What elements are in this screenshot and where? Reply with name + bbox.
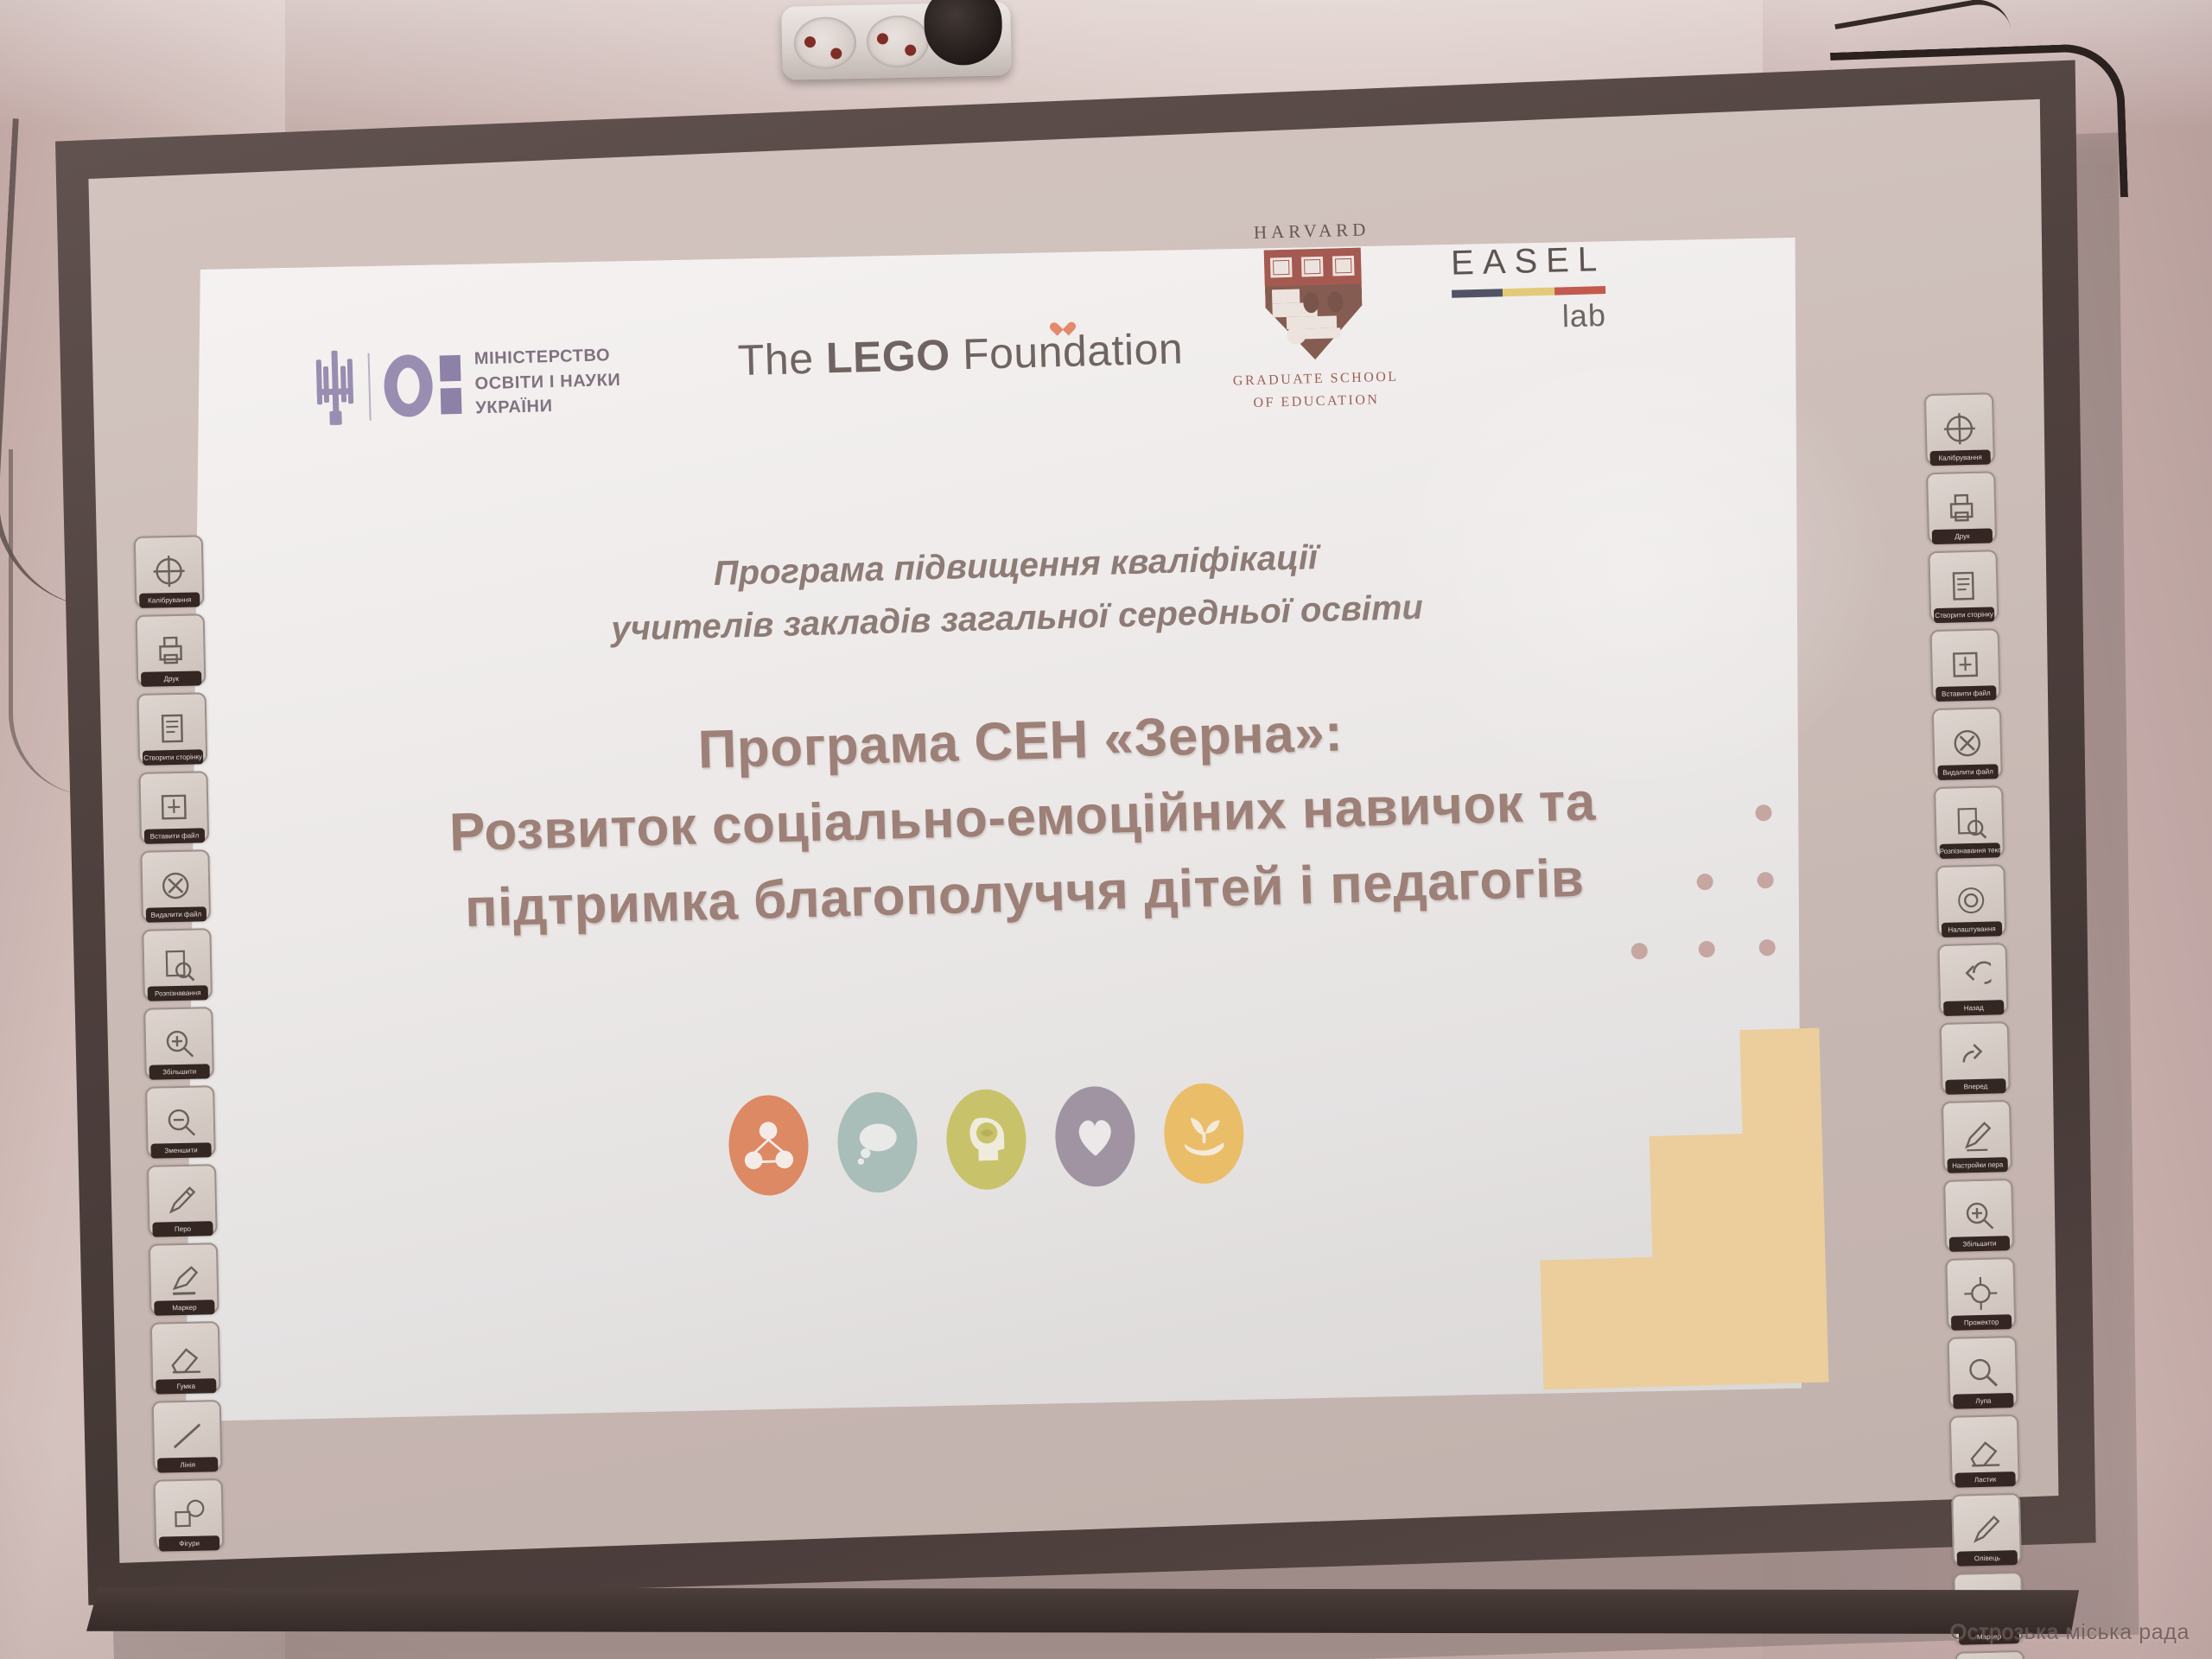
interactive-whiteboard: МІНІСТЕРСТВО ОСВІТИ І НАУКИ УКРАЇНИ The …	[35, 48, 2126, 1629]
toolbar-left-tool-6[interactable]: Збільшити	[143, 1007, 214, 1079]
target-icon	[1941, 410, 1978, 448]
undo-icon	[1955, 961, 1992, 998]
head-brain-icon	[945, 1089, 1027, 1191]
ukraine-trident-icon	[314, 350, 355, 425]
recognize-icon	[1950, 804, 1987, 841]
social-network-icon	[728, 1094, 810, 1196]
settings-icon	[1953, 882, 1990, 919]
decorative-steps	[1534, 1028, 1828, 1390]
toolbar-right-tool-label-1: Друк	[1932, 528, 1993, 544]
toolbar-left-tool-label-11: Лінія	[157, 1457, 218, 1472]
new-page-icon	[1945, 568, 1982, 605]
printer-icon	[1943, 489, 1980, 526]
easel-lab-text: lab	[1452, 297, 1606, 338]
toolbar-right-tool-12[interactable]: Лупа	[1948, 1336, 2018, 1408]
toolbar-right-tool-label-10: Збільшити	[1949, 1236, 2010, 1252]
toolbar-right-tool-5[interactable]: Розпізнавання тексту	[1934, 785, 2005, 858]
ministry-line-2: ОСВІТИ І НАУКИ	[474, 368, 621, 397]
line-icon	[168, 1417, 206, 1454]
pencil-icon	[1967, 1510, 2005, 1548]
toolbar-left-tool-label-1: Друк	[141, 671, 201, 686]
insert-file-icon	[156, 789, 193, 826]
toolbar-right-tool-label-3: Вставити файл	[1935, 685, 1996, 702]
delete-file-icon	[1948, 725, 1986, 762]
toolbar-left-tool-1[interactable]: Друк	[136, 613, 207, 686]
pen-settings-icon	[1958, 1118, 1995, 1155]
redo-icon	[1956, 1039, 1993, 1077]
harvard-subtitle: GRADUATE SCHOOL OF EDUCATION	[1211, 365, 1420, 416]
toolbar-left-tool-0[interactable]: Калібрування	[134, 535, 205, 607]
toolbar-left-tool-label-5: Розпізнавання	[148, 985, 208, 1001]
toolbar-left-tool-label-0: Калібрування	[139, 592, 200, 607]
toolbar-right-tool-label-9: Настройки пера	[1948, 1157, 2008, 1173]
heart-icon-domain	[1054, 1085, 1136, 1187]
toolbar-left-tool-label-2: Створити сторінку	[143, 749, 203, 765]
photo-scene: МІНІСТЕРСТВО ОСВІТИ І НАУКИ УКРАЇНИ The …	[0, 0, 2212, 1659]
toolbar-left-tool-12[interactable]: Фігури	[154, 1478, 225, 1551]
insert-file-icon	[1947, 646, 1984, 683]
toolbar-right-tool-16[interactable]: Фігури	[1955, 1650, 2025, 1659]
zoom-in-icon	[1961, 1196, 1998, 1233]
eraser-icon	[167, 1338, 204, 1376]
toolbar-right-tool-10[interactable]: Збільшити	[1943, 1179, 2014, 1251]
printer-icon	[152, 632, 189, 669]
harvard-shield-icon	[1264, 248, 1363, 361]
ministry-logo-text: МІНІСТЕРСТВО ОСВІТИ І НАУКИ УКРАЇНИ	[474, 343, 621, 421]
toolbar-left-tool-label-12: Фігури	[159, 1535, 219, 1551]
slide-content: МІНІСТЕРСТВО ОСВІТИ І НАУКИ УКРАЇНИ The …	[199, 199, 1828, 1417]
easel-wordmark: EASEL	[1451, 239, 1642, 283]
toolbar-right-tool-label-12: Лупа	[1953, 1393, 2013, 1409]
zoom-in-icon	[161, 1025, 198, 1062]
toolbar-right-tool-14[interactable]: Олівець	[1951, 1493, 2022, 1566]
new-page-icon	[154, 710, 191, 747]
toolbar-left-tool-label-7: Зменшити	[150, 1142, 211, 1158]
delete-file-icon	[157, 868, 194, 905]
toolbar-right-tool-label-7: Назад	[1943, 1000, 2004, 1016]
eraser-icon	[1966, 1432, 2003, 1469]
toolbar-left-tool-3[interactable]: Вставити файл	[138, 771, 209, 843]
toolbar-left-tool-9[interactable]: Маркер	[149, 1243, 219, 1315]
toolbar-right-tool-label-11: Прожектор	[1951, 1314, 2012, 1331]
toolbar-left-tool-7[interactable]: Зменшити	[145, 1085, 216, 1158]
mon-mark-icon	[384, 353, 462, 417]
lego-foundation-logo: The LEGO Foundation	[737, 323, 1184, 385]
toolbar-left-tool-8[interactable]: Перо	[147, 1164, 218, 1236]
easel-lab-logo: EASEL lab	[1451, 239, 1643, 338]
ministry-line-1: МІНІСТЕРСТВО	[474, 343, 620, 372]
toolbar-right-tool-label-13: Ластик	[1955, 1471, 2015, 1488]
toolbar-right-tool-label-2: Створити сторінку	[1934, 607, 1994, 623]
toolbar-right-tool-label-8: Вперед	[1945, 1078, 2005, 1095]
toolbar-right-tool-label-0: Калібрування	[1929, 449, 1990, 466]
whiteboard-pen-tray	[86, 1587, 2091, 1634]
toolbar-left-tool-label-6: Збільшити	[149, 1064, 210, 1079]
slide-subtitle: Програма підвищення кваліфікації учителі…	[458, 524, 1575, 659]
toolbar-right-tool-label-5: Розпізнавання тексту	[1940, 842, 2000, 859]
lego-prefix: The	[737, 334, 827, 385]
ministry-of-education-logo: МІНІСТЕРСТВО ОСВІТИ І НАУКИ УКРАЇНИ	[314, 343, 621, 426]
toolbar-left-tool-10[interactable]: Гумка	[150, 1321, 221, 1394]
toolbar-right-tool-3[interactable]: Вставити файл	[1930, 628, 2001, 701]
shapes-icon	[170, 1496, 207, 1533]
toolbar-right-tool-9[interactable]: Настройки пера	[1942, 1100, 2012, 1173]
sel-domain-icons	[728, 1083, 1245, 1197]
toolbar-left-tool-label-8: Перо	[152, 1221, 213, 1236]
toolbar-right-tool-label-4: Видалити файл	[1937, 764, 1998, 780]
toolbar-left-tool-label-4: Видалити файл	[146, 906, 207, 922]
toolbar-right-tool-8[interactable]: Вперед	[1940, 1021, 2011, 1094]
toolbar-right-tool-label-14: Олівець	[1957, 1550, 2018, 1567]
logo-divider	[368, 353, 372, 421]
toolbar-left-tool-label-9: Маркер	[154, 1300, 214, 1315]
harvard-gse-logo: HARVARD GRADUATE SCHOOL OF	[1208, 218, 1421, 416]
toolbar-right-tool-4[interactable]: Видалити файл	[1932, 707, 2003, 779]
toolbar-left-tool-4[interactable]: Видалити файл	[140, 849, 211, 922]
toolbar-right-tool-13[interactable]: Ластик	[1949, 1414, 2020, 1487]
toolbar-right-tool-7[interactable]: Назад	[1937, 943, 2008, 1015]
harvard-wordmark: HARVARD	[1208, 218, 1416, 245]
toolbar-left-tool-label-10: Гумка	[156, 1378, 216, 1394]
toolbar-right-tool-0[interactable]: Калібрування	[1924, 392, 1995, 465]
hand-plant-icon	[1163, 1083, 1245, 1185]
logo-row: МІНІСТЕРСТВО ОСВІТИ І НАУКИ УКРАЇНИ The …	[199, 199, 1804, 510]
toolbar-left-tool-label-3: Вставити файл	[144, 828, 205, 843]
lego-brand: LEGO	[825, 331, 950, 383]
pen-icon	[163, 1182, 200, 1219]
target-icon	[150, 553, 188, 590]
recognize-icon	[159, 946, 196, 983]
decorative-dots	[1529, 804, 1794, 1018]
watermark: Острозька міська рада	[1950, 1620, 2190, 1645]
toolbar-right-tool-11[interactable]: Прожектор	[1945, 1257, 2016, 1330]
zoom-out-icon	[162, 1103, 199, 1141]
toolbar-right-tool-1[interactable]: Друк	[1926, 471, 1997, 543]
easel-color-bar	[1452, 286, 1605, 298]
toolbar-left-tool-11[interactable]: Лінія	[152, 1400, 223, 1472]
marker-icon	[165, 1261, 202, 1298]
magnifier-icon	[1964, 1353, 2001, 1390]
toolbar-right-tool-2[interactable]: Створити сторінку	[1928, 550, 1999, 622]
toolbar-left-tool-5[interactable]: Розпізнавання	[142, 928, 213, 1001]
spotlight-icon	[1962, 1274, 1999, 1312]
ministry-line-3: УКРАЇНИ	[475, 392, 622, 421]
thought-cloud-icon	[836, 1091, 918, 1193]
toolbar-right-tool-label-6: Налаштування	[1942, 921, 2002, 938]
heart-icon	[1056, 320, 1071, 334]
toolbar-right-tool-6[interactable]: Налаштування	[1935, 864, 2006, 937]
toolbar-left-tool-2[interactable]: Створити сторінку	[137, 692, 208, 765]
